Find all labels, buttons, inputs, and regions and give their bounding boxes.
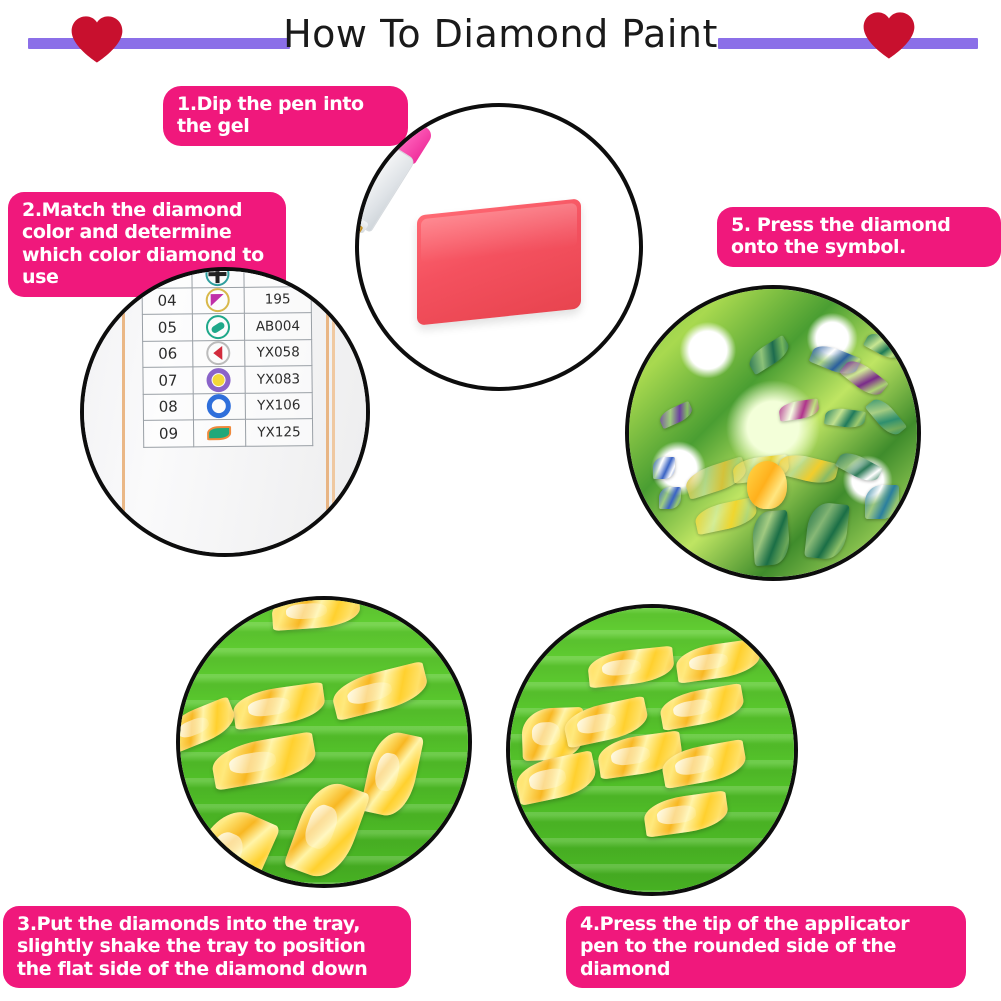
step-1-label: 1.Dip the pen into the gel bbox=[163, 86, 408, 146]
page-title: How To Diamond Paint bbox=[0, 12, 1001, 56]
chart-cell-code: YX083 bbox=[245, 366, 312, 393]
chart-row: 03 111 bbox=[142, 267, 311, 288]
chart-cell-code: YX058 bbox=[244, 339, 311, 366]
chart-cell-code: AB004 bbox=[244, 313, 311, 340]
chart-cell-symbol bbox=[193, 393, 245, 420]
chart-cell-symbol bbox=[192, 313, 244, 340]
chart-cell-symbol bbox=[192, 340, 244, 367]
chart-cell-number: 09 bbox=[143, 420, 193, 447]
chart-cell-number: 08 bbox=[143, 393, 193, 420]
chart-cell-number: 03 bbox=[142, 267, 192, 288]
chart-cell-number: 07 bbox=[143, 367, 193, 394]
pen-barrel bbox=[355, 142, 416, 233]
chart-row: 09 YX125 bbox=[143, 419, 312, 447]
chart-row: 04 195 bbox=[142, 286, 311, 314]
chart-cell-symbol bbox=[193, 366, 245, 393]
paper-edge-right bbox=[326, 267, 329, 557]
chart-cell-number: 06 bbox=[143, 340, 193, 367]
diamond-gem bbox=[653, 457, 675, 479]
diamond-gem-highlighted bbox=[747, 461, 787, 509]
step-3-photo-diamonds-in-tray bbox=[176, 596, 472, 888]
step-1-photo-pen-dipping-into-gel bbox=[355, 103, 643, 391]
diamond-gem bbox=[865, 485, 899, 519]
chart-cell-code: 195 bbox=[244, 286, 311, 313]
pink-gel-pad bbox=[417, 198, 581, 325]
chart-cell-symbol bbox=[193, 419, 245, 446]
chart-row: 07 YX083 bbox=[143, 366, 312, 394]
chart-cell-number: 05 bbox=[142, 314, 192, 341]
step-5-label: 5. Press the diamond onto the symbol. bbox=[717, 207, 1001, 267]
paper-edge-left bbox=[122, 267, 125, 557]
chart-cell-symbol bbox=[192, 267, 244, 287]
chart-cell-code: YX106 bbox=[245, 392, 312, 419]
diamond-color-chart-table: 02802 09303 11104 19505 AB00406 YX05807 … bbox=[141, 267, 313, 447]
chart-cell-code: YX125 bbox=[245, 419, 312, 446]
paper-edge-right-2 bbox=[332, 267, 335, 557]
chart-row: 08YX106 bbox=[143, 392, 312, 420]
step-5-photo-diamond-on-canvas bbox=[625, 285, 921, 581]
chart-row: 06 YX058 bbox=[143, 339, 312, 367]
chart-row: 05 AB004 bbox=[142, 313, 311, 341]
chart-paper: 02802 09303 11104 19505 AB00406 YX05807 … bbox=[84, 267, 370, 557]
header-banner: How To Diamond Paint bbox=[0, 0, 1001, 78]
chart-cell-number: 04 bbox=[142, 287, 192, 314]
chart-cell-symbol bbox=[192, 287, 244, 314]
step-4-label: 4.Press the tip of the applicator pen to… bbox=[566, 906, 966, 988]
step-3-label: 3.Put the diamonds into the tray, slight… bbox=[3, 906, 411, 988]
step-2-photo-color-chart: 02802 09303 11104 19505 AB00406 YX05807 … bbox=[80, 267, 370, 557]
diamond-gem bbox=[659, 487, 681, 509]
step-4-photo-pressing-diamond bbox=[506, 604, 798, 896]
